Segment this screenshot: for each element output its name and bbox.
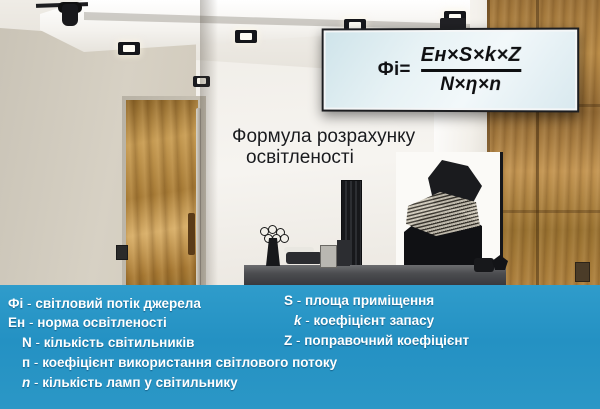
- legend-description: норма освітленості: [37, 315, 167, 330]
- legend-description: поправочний коефіцієнт: [304, 333, 469, 348]
- spotlight-body: [62, 4, 78, 26]
- legend-description: кількість світильників: [44, 335, 195, 350]
- legend-symbol: Ен: [8, 315, 25, 330]
- screenshot-root: Фі= Ен×S×k×Z N×η×n Формула розрахунку ос…: [0, 0, 600, 409]
- legend-item-phi: Фі - світловий потік джерела: [8, 296, 201, 311]
- legend-dash: -: [29, 315, 34, 330]
- legend-description: кількість ламп у світильнику: [42, 375, 237, 390]
- legend-item-s: S - площа приміщення: [284, 293, 434, 308]
- legend-dash: -: [34, 375, 39, 390]
- legend-dash: -: [296, 333, 301, 348]
- legend-description: світловий потік джерела: [35, 296, 201, 311]
- legend-item-n-capital: N - кількість світильників: [22, 335, 194, 350]
- legend-description: коефіцієнт використання світлового поток…: [42, 355, 337, 370]
- legend-dash: -: [27, 296, 32, 311]
- door-lock: [188, 213, 195, 255]
- wall-socket-icon: [575, 262, 590, 282]
- page-title: Формула розрахунку освітленості: [232, 126, 532, 168]
- wooden-door: [126, 100, 198, 295]
- console-table: [244, 265, 506, 287]
- formula-fraction: Ен×S×k×Z N×η×n: [421, 44, 522, 96]
- legend-symbol: S: [284, 293, 293, 308]
- tray-decor: [286, 252, 322, 264]
- formula-denominator: N×η×n: [440, 74, 501, 96]
- legend-description: площа приміщення: [305, 293, 434, 308]
- legend-symbol: Фі: [8, 296, 23, 311]
- sculpture-base: [474, 258, 494, 272]
- downlight-icon: [235, 30, 257, 43]
- legend-symbol: п: [22, 355, 30, 370]
- formula-numerator: Ен×S×k×Z: [421, 44, 522, 67]
- legend-item-k: k - коефіцієнт запасу: [294, 313, 434, 328]
- legend-item-n-small: n - кількість ламп у світильнику: [22, 375, 238, 390]
- legend-dash: -: [36, 335, 41, 350]
- legend-description: коефіцієнт запасу: [314, 313, 435, 328]
- box-decor: [320, 245, 337, 268]
- legend-symbol: Z: [284, 333, 292, 348]
- fraction-bar: [421, 69, 522, 72]
- title-line-1: Формула розрахунку: [232, 126, 415, 147]
- wall-artwork: [396, 152, 503, 270]
- legend-item-eta: п - коефіцієнт використання світлового п…: [22, 355, 337, 370]
- legend-dash: -: [305, 313, 310, 328]
- formula-lhs: Фі=: [378, 59, 411, 81]
- legend-symbol: n: [22, 375, 30, 390]
- legend-list: Фі - світловий потік джерела Ен - норма …: [0, 285, 600, 409]
- legend-dash: -: [297, 293, 302, 308]
- legend-banner: Фі - світловий потік джерела Ен - норма …: [0, 285, 600, 409]
- formula-panel: Фі= Ен×S×k×Z N×η×n: [322, 28, 580, 113]
- frame-decor: [337, 240, 350, 266]
- downlight-icon: [118, 42, 140, 55]
- wall-corner-shadow: [200, 0, 218, 295]
- legend-dash: -: [34, 355, 39, 370]
- legend-symbol: k: [294, 313, 302, 328]
- title-line-2: освітленості: [246, 147, 532, 168]
- legend-item-en: Ен - норма освітленості: [8, 315, 167, 330]
- legend-item-z: Z - поправочний коефіцієнт: [284, 333, 469, 348]
- light-switch-icon: [116, 245, 128, 260]
- legend-symbol: N: [22, 335, 32, 350]
- wood-joint-lower: [487, 210, 600, 213]
